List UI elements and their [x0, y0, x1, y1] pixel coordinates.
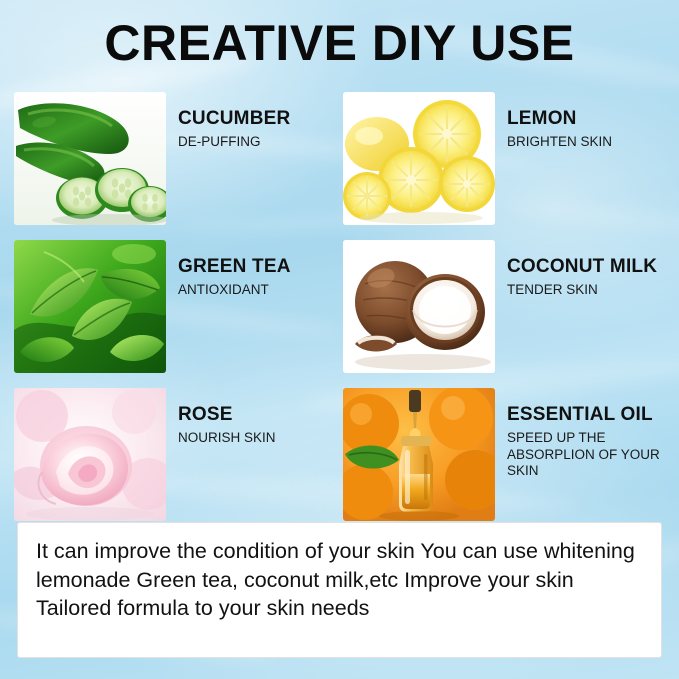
ingredient-subtitle: SPEED UP THE ABSORPLION OF YOUR SKIN [507, 430, 665, 479]
ingredient-subtitle: NOURISH SKIN [178, 430, 336, 446]
description-panel: It can improve the condition of your ski… [17, 522, 662, 658]
ingredient-title: LEMON [507, 108, 665, 129]
ingredient-title: ROSE [178, 404, 336, 425]
ingredient-card-essential-oil: ESSENTIAL OIL SPEED UP THE ABSORPLION OF… [343, 388, 665, 534]
ingredient-subtitle: ANTIOXIDANT [178, 282, 336, 298]
coconut-photo [343, 240, 495, 373]
ingredient-text-coconut-milk: COCONUT MILK TENDER SKIN [507, 240, 665, 298]
pink-rose-photo [14, 388, 166, 521]
essential-oil-bottle-photo [343, 388, 495, 521]
green-tea-leaves-photo [14, 240, 166, 373]
cucumber-slices-photo [14, 92, 166, 225]
ingredient-title: CUCUMBER [178, 108, 336, 129]
ingredient-text-cucumber: CUCUMBER DE-PUFFING [178, 92, 336, 150]
ingredient-card-lemon: LEMON BRIGHTEN SKIN [343, 92, 665, 238]
ingredient-title: ESSENTIAL OIL [507, 404, 665, 425]
poster-background: CREATIVE DIY USE [0, 0, 679, 679]
ingredient-text-green-tea: GREEN TEA ANTIOXIDANT [178, 240, 336, 298]
ingredient-text-essential-oil: ESSENTIAL OIL SPEED UP THE ABSORPLION OF… [507, 388, 665, 480]
ingredient-subtitle: BRIGHTEN SKIN [507, 134, 665, 150]
lemon-slices-photo [343, 92, 495, 225]
ingredient-subtitle: DE-PUFFING [178, 134, 336, 150]
ingredient-card-green-tea: GREEN TEA ANTIOXIDANT [14, 240, 336, 386]
ingredient-title: GREEN TEA [178, 256, 336, 277]
ingredient-subtitle: TENDER SKIN [507, 282, 665, 298]
ingredient-text-lemon: LEMON BRIGHTEN SKIN [507, 92, 665, 150]
ingredient-text-rose: ROSE NOURISH SKIN [178, 388, 336, 446]
ingredient-title: COCONUT MILK [507, 256, 665, 277]
ingredient-grid: CUCUMBER DE-PUFFING [14, 92, 665, 534]
description-text: It can improve the condition of your ski… [36, 537, 643, 623]
ingredient-card-cucumber: CUCUMBER DE-PUFFING [14, 92, 336, 238]
page-title: CREATIVE DIY USE [0, 16, 679, 71]
ingredient-card-rose: ROSE NOURISH SKIN [14, 388, 336, 534]
ingredient-card-coconut-milk: COCONUT MILK TENDER SKIN [343, 240, 665, 386]
